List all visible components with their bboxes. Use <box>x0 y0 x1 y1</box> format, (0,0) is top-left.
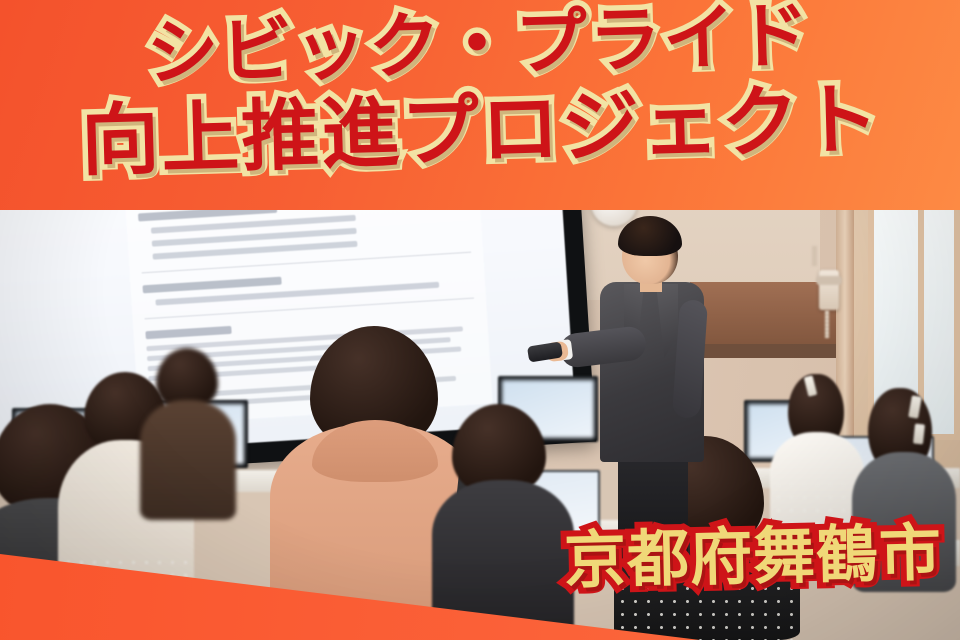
poster-location-label: 京都府舞鶴市 <box>563 522 942 592</box>
poster-title: シビック・プライド 向上推進プロジェクト <box>0 0 960 183</box>
poster-canvas: シビック・プライド 向上推進プロジェクト 京都府舞鶴市 <box>0 0 960 640</box>
poster-location: 京都府舞鶴市 <box>563 522 942 592</box>
